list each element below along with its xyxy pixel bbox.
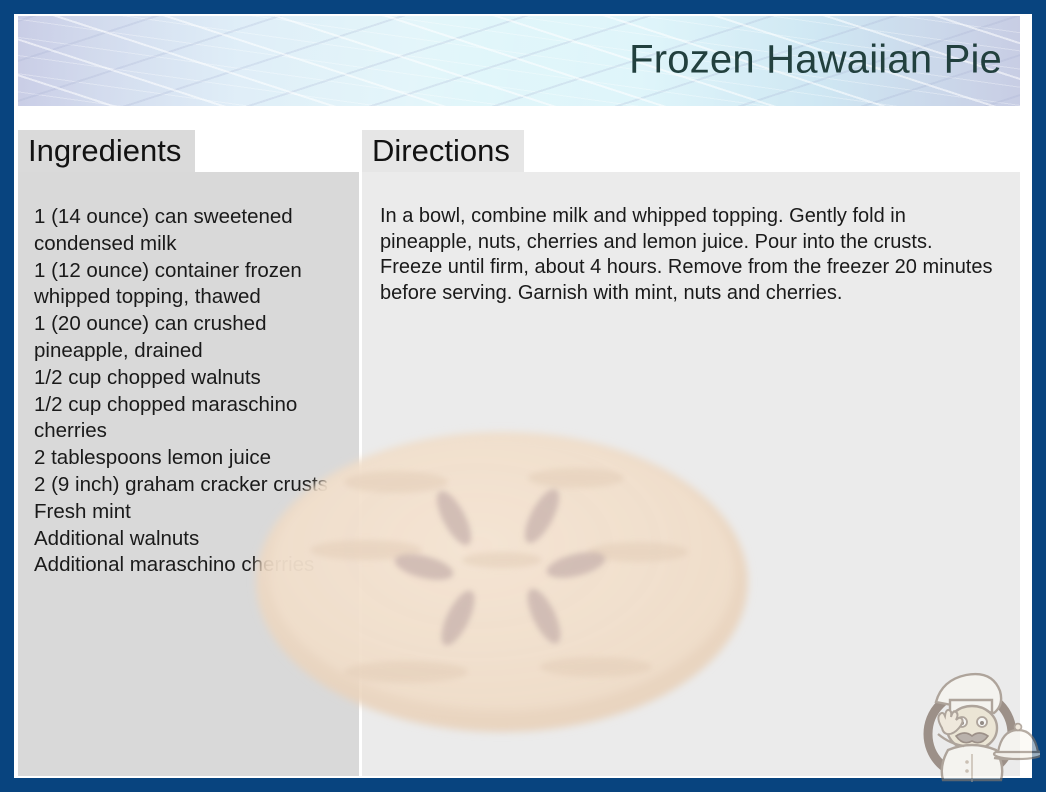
- list-item: condensed milk: [34, 231, 354, 258]
- list-item: 1 (14 ounce) can sweetened: [34, 204, 354, 231]
- list-item: 1/2 cup chopped maraschino: [34, 392, 354, 419]
- list-item: 1 (12 ounce) container frozen: [34, 258, 354, 285]
- list-item: whipped topping, thawed: [34, 284, 354, 311]
- list-item: 1 (20 ounce) can crushed: [34, 311, 354, 338]
- list-item: Fresh mint: [34, 499, 354, 526]
- directions-text: In a bowl, combine milk and whipped topp…: [380, 204, 994, 306]
- page-title: Frozen Hawaiian Pie: [629, 38, 1002, 83]
- list-item: cherries: [34, 418, 354, 445]
- list-item: 2 tablespoons lemon juice: [34, 445, 354, 472]
- header-banner: Frozen Hawaiian Pie: [18, 16, 1020, 106]
- list-item: pineapple, drained: [34, 338, 354, 365]
- section-tab-ingredients: Ingredients: [18, 130, 195, 172]
- list-item: Additional walnuts: [34, 526, 354, 553]
- recipe-card: Frozen Hawaiian Pie Ingredients Directio…: [0, 0, 1046, 792]
- section-tab-directions: Directions: [362, 130, 524, 172]
- list-item: 2 (9 inch) graham cracker crusts: [34, 472, 354, 499]
- list-item: Additional maraschino cherries: [34, 552, 354, 579]
- ingredients-panel: 1 (14 ounce) can sweetened condensed mil…: [18, 172, 359, 776]
- list-item: 1/2 cup chopped walnuts: [34, 365, 354, 392]
- ingredients-list: 1 (14 ounce) can sweetened condensed mil…: [34, 204, 354, 579]
- chef-logo-icon: [912, 662, 1040, 788]
